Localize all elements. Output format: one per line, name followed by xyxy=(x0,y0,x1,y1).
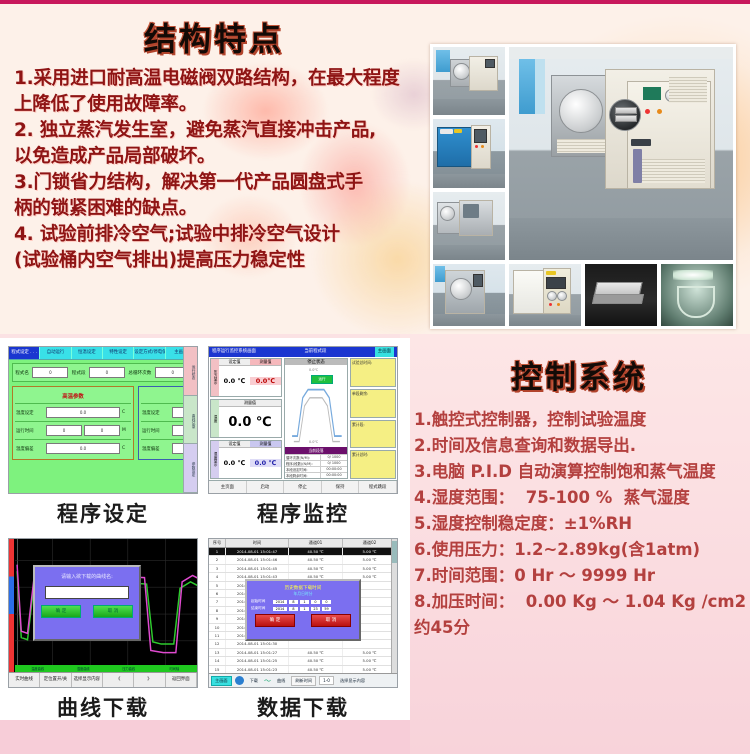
table-row[interactable]: 12014-08-01 15:01:4740.50 ℃5.00 ℃ xyxy=(209,548,397,556)
hmi1-field-ht-deviation[interactable]: 0.0 xyxy=(46,443,120,454)
control-item-9: 约45分 xyxy=(414,615,746,641)
hmi-panel-program-monitor: 程序运行监控系统画面 当前程式段 主画面 压力显示 设定值 测量值 xyxy=(208,346,398,528)
hmi3-download-dialog[interactable]: 请输入欲下载的曲线名: 确 定 取 消 xyxy=(33,565,141,641)
hmi4-start-year[interactable]: 2014 xyxy=(273,600,287,604)
hmi3-axis-scale xyxy=(9,539,14,673)
hmi4-start-minute[interactable]: 0 xyxy=(322,600,331,604)
hmi4-download-dialog[interactable]: 历史数据下载时间 年月日时分 起始时间 2014 8 1 0 0 结束时间 20… xyxy=(245,579,361,641)
cell-ch2: 5.00 ℃ xyxy=(343,548,397,555)
photo-chamber-interior-lit xyxy=(661,264,733,326)
photo-inner-tray-dark xyxy=(585,264,657,326)
control-item-1: 1.触控式控制器，控制试验温度 xyxy=(414,407,746,433)
control-item-6: 6.使用压力：1.2~2.89kg(含1atm) xyxy=(414,537,746,563)
photo-white-chamber-control-panel xyxy=(509,264,581,326)
hmi2-button-stop[interactable]: 停止 xyxy=(284,481,322,494)
hmi4-dialog-title: 历史数据下载时间 xyxy=(247,581,359,591)
cell-no: 13 xyxy=(209,649,226,656)
photo-main-pressure-cooker-test-chamber xyxy=(509,47,733,260)
hmi2-titlebar: 程序运行监控系统画面 当前程式段 主画面 xyxy=(209,347,397,357)
photo-grey-blue-chamber-front xyxy=(433,264,505,326)
hmi1-tab-1[interactable]: 自动运行 xyxy=(40,347,71,359)
hmi1-field-program-name[interactable]: 0 xyxy=(32,367,68,378)
hmi4-start-hour[interactable]: 0 xyxy=(311,600,320,604)
cell-no: 5 xyxy=(209,582,226,589)
hmi4-button-home[interactable]: 主画面 xyxy=(211,676,232,686)
cell-time: 2014-08-01 15:01:27 xyxy=(226,649,289,656)
hmi2-meter-temperature-tag: 温度 xyxy=(211,400,219,437)
hmi4-end-minute[interactable]: 59 xyxy=(322,607,331,611)
cell-ch2: 5.00 ℃ xyxy=(343,666,397,673)
hmi4-col-time: 时间 xyxy=(226,539,289,547)
hmi1-label-ht-runtime: 运行时间 xyxy=(16,428,44,434)
photo-row-bottom xyxy=(433,264,733,326)
table-row[interactable]: 122014-08-01 15:01:30 xyxy=(209,640,397,648)
hmi2-segment-band: 当前段落 xyxy=(285,447,347,454)
hmi3-button-realtime-curve[interactable]: 实时曲线 xyxy=(9,673,40,687)
hmi1-top-row: 程式名 0 程式段 0 总循环次数 0 xyxy=(12,363,194,382)
feature-item-2: 2. 独立蒸汽发生室，避免蒸汽直接冲击产品, 以免造成产品局部破坏。 xyxy=(14,118,410,169)
hmi4-dialog-ok-button[interactable]: 确 定 xyxy=(255,614,295,627)
hmi1-label-lt-runtime: 运行时间 xyxy=(142,428,170,434)
download-icon[interactable] xyxy=(235,676,244,685)
cell-no: 2 xyxy=(209,556,226,563)
hmi-panel-data-download: 序号 时间 通道01 通道02 12014-08-01 15:01:4740.5… xyxy=(208,538,398,722)
photo-chamber-open-door-lab xyxy=(433,47,505,115)
cell-no: 3 xyxy=(209,565,226,572)
hmi2-pressure-value-meas: 0.0℃ xyxy=(250,377,281,385)
hmi2-meter-humidity-tag: 湿度显示 xyxy=(211,441,219,478)
hmi1-tab-3[interactable]: 特性设定 xyxy=(103,347,134,359)
product-photo-grid xyxy=(430,44,736,329)
hmi1-tabbar: 程式设定 . . . 自动运行 恒温设定 特性设定 设定方式/停电保护 主画面 xyxy=(9,347,197,360)
control-item-2: 2.时间及信息查询和数据导出. xyxy=(414,433,746,459)
hmi2-card-accumulated-time: 累计总时: xyxy=(350,450,396,479)
hmi2-title-mid: 当前程式段 xyxy=(304,347,326,357)
hmi1-label-ht-deviation: 温度偏差 xyxy=(16,446,44,452)
hmi2-meter-humidity: 湿度显示 设定值 测量值 0.0 ℃ 0.0 ℃ xyxy=(210,440,282,479)
hmi2-home-button[interactable]: 主画面 xyxy=(375,347,394,357)
hmi1-label-total-cycles: 总循环次数 xyxy=(128,370,151,376)
hmi2-temp-value: 0.0 ℃ xyxy=(219,415,281,430)
hmi1-sidebar: 运行状态 曲线记录 参数设定 xyxy=(183,347,197,493)
hmi1-label-lt-deviation: 温度偏差 xyxy=(142,446,170,452)
hmi2-meter-pressure-tag: 压力显示 xyxy=(211,359,219,396)
cell-no: 7 xyxy=(209,598,226,605)
hmi4-dialog-label-end: 结束时间 xyxy=(251,606,271,611)
cell-ch1: 40.50 ℃ xyxy=(289,565,343,572)
control-item-5: 5.湿度控制稳定度：±1%RH xyxy=(414,511,746,537)
control-spec-list: 1.触控式控制器，控制试验温度 2.时间及信息查询和数据导出. 3.电脑 P.I… xyxy=(408,407,750,641)
control-item-8: 8.加压时间： 0.00 Kg ～ 1.04 Kg /cm2 xyxy=(414,589,746,615)
hmi1-field-ht-runtime-m[interactable]: 0 xyxy=(84,425,120,436)
hmi3-dialog-input[interactable] xyxy=(45,586,129,599)
cell-ch1: 40.50 ℃ xyxy=(289,649,343,656)
cell-time: 2014-08-01 15:01:23 xyxy=(226,666,289,673)
hmi2-button-jump-segment[interactable]: 程式跳段 xyxy=(359,481,397,494)
cell-ch1: 40.50 ℃ xyxy=(289,657,343,664)
photo-blue-cabinet-chamber xyxy=(433,119,505,187)
control-system-title: 控制系统 xyxy=(408,340,750,407)
hmi-screen-curve-download[interactable]: 温度曲线 湿度曲线 压力曲线 时间轴 请输入欲下载的曲线名: 确 定 取 消 实… xyxy=(8,538,198,688)
hmi-caption-data-download: 数据下载 xyxy=(208,692,398,722)
hmi1-unit-ht-setpoint: C xyxy=(122,410,130,415)
hmi4-dialog-label-start: 起始时间 xyxy=(251,599,271,604)
table-row[interactable]: 32014-08-01 15:01:4540.50 ℃5.00 ℃ xyxy=(209,565,397,573)
table-row[interactable]: 132014-08-01 15:01:2740.50 ℃5.00 ℃ xyxy=(209,649,397,657)
hmi2-meter-column: 压力显示 设定值 测量值 0.0 ℃ 0.0℃ xyxy=(209,357,283,480)
hmi1-field-ht-runtime-h[interactable]: 0 xyxy=(46,425,82,436)
hmi1-tab-0[interactable]: 程式设定 . . . xyxy=(9,347,40,359)
hmi1-label-program-name: 程式名 xyxy=(15,370,29,376)
hmi2-info-cards: 试验总时间: 单段剩余: 累计段: 累计总时: xyxy=(349,357,397,480)
cell-time: 2014-08-01 15:01:47 xyxy=(226,548,289,555)
hmi4-button-download[interactable]: 下载 xyxy=(247,677,261,685)
hmi-screen-data-download[interactable]: 序号 时间 通道01 通道02 12014-08-01 15:01:4740.5… xyxy=(208,538,398,688)
photo-stainless-chamber-open xyxy=(433,192,505,260)
hmi3-button-return[interactable]: 返回界面 xyxy=(166,673,197,687)
hmi4-end-day[interactable]: 1 xyxy=(300,607,309,611)
cell-ch1: 40.50 ℃ xyxy=(289,556,343,563)
hmi1-row-ht-runtime: 运行时间 0 0 M xyxy=(15,421,131,439)
cell-time: 2014-08-01 15:01:30 xyxy=(226,640,289,647)
hmi2-main: 压力显示 设定值 测量值 0.0 ℃ 0.0℃ xyxy=(209,357,397,480)
cell-time: 2014-08-01 15:01:25 xyxy=(226,657,289,664)
hmi2-card-accumulated-segments: 累计段: xyxy=(350,420,396,449)
cell-no: 14 xyxy=(209,657,226,664)
control-item-4: 4.湿度范围： 75-100 % 蒸气湿度 xyxy=(414,485,746,511)
curve-icon[interactable]: 〜 xyxy=(264,676,271,686)
hmi4-start-day[interactable]: 1 xyxy=(300,600,309,604)
hmi4-button-select-content[interactable]: 选择显示内容 xyxy=(337,677,368,685)
hmi2-meter-temperature: 温度 测量值 0.0 ℃ xyxy=(210,399,282,438)
hmi2-title-left: 程序运行监控系统画面 xyxy=(212,347,256,357)
hmi3-dialog-cancel-button[interactable]: 取 消 xyxy=(93,605,133,618)
hmi4-table-header: 序号 时间 通道01 通道02 xyxy=(209,539,397,548)
hmi4-buttonbar: 主画面 下载 〜 曲线 刷新时间 1-0 选择显示内容 xyxy=(209,673,397,687)
hmi2-pressure-value-set: 0.0 ℃ xyxy=(219,377,250,385)
table-row[interactable]: 22014-08-01 15:01:4640.50 ℃5.00 ℃ xyxy=(209,556,397,564)
hmi4-end-year[interactable]: 2014 xyxy=(273,607,287,611)
cell-no: 6 xyxy=(209,590,226,597)
hmi3-buttonbar: 实时曲线 定位置开/关 选择显示内容 《 》 返回界面 xyxy=(9,672,197,687)
hmi2-profile-plot: 运行 0.0℃ 0.0℃ xyxy=(285,365,347,447)
hmi2-run-badge: 运行 xyxy=(311,375,333,384)
cell-no: 15 xyxy=(209,666,226,673)
hmi4-dialog-subtitle: 年月日时分 xyxy=(247,591,359,597)
hmi-caption-curve-download: 曲线下载 xyxy=(8,692,198,722)
hmi2-hum-value-meas: 0.0 ℃ xyxy=(250,459,281,467)
hmi2-hum-value-set: 0.0 ℃ xyxy=(219,459,250,467)
feature-list: 1.采用进口耐高温电磁阀双路结构，在最大程度 上降低了使用故障率。 2. 独立蒸… xyxy=(0,66,418,273)
hmi4-dialog-row-end: 结束时间 2014 8 1 23 59 xyxy=(251,606,355,611)
hmi4-vertical-scrollbar[interactable] xyxy=(391,539,397,674)
photo-column-left xyxy=(433,47,505,260)
cell-ch1: 40.50 ℃ xyxy=(289,548,343,555)
hmi2-button-home[interactable]: 主页面 xyxy=(209,481,247,494)
hmi1-row-ht-setpoint: 温度设定 0.0 C xyxy=(15,403,131,421)
hmi1-group-high-temp-header: 高温参数 xyxy=(15,389,131,403)
hmi2-hum-head-meas: 测量值 xyxy=(250,441,281,448)
hmi-screen-program-setting[interactable]: 程式设定 . . . 自动运行 恒温设定 特性设定 设定方式/停电保护 主画面 … xyxy=(8,346,198,494)
hmi2-hum-head-set: 设定值 xyxy=(219,441,250,448)
cell-no: 8 xyxy=(209,607,226,614)
control-item-7: 7.时间范围：0 Hr ～ 9999 Hr xyxy=(414,563,746,589)
hmi1-label-ht-setpoint: 温度设定 xyxy=(16,410,44,416)
hmi1-unit-ht-deviation: C xyxy=(122,446,130,451)
hmi4-col-no: 序号 xyxy=(209,539,226,547)
hmi4-end-month[interactable]: 8 xyxy=(289,607,298,611)
hmi4-start-month[interactable]: 8 xyxy=(289,600,298,604)
hmi1-label-program-step: 程式段 xyxy=(72,370,86,376)
hmi1-sidebar-item-1[interactable]: 曲线记录 xyxy=(184,396,197,445)
cell-ch1: 40.50 ℃ xyxy=(289,666,343,673)
cell-ch2: 5.00 ℃ xyxy=(343,657,397,664)
hmi1-sidebar-item-0[interactable]: 运行状态 xyxy=(184,347,197,396)
cell-no: 12 xyxy=(209,640,226,647)
cell-ch1 xyxy=(289,640,343,647)
hmi2-pressure-head-set: 设定值 xyxy=(219,359,250,366)
control-item-3: 3.电脑 P.I.D 自动演算控制饱和蒸气温度 xyxy=(414,459,746,485)
hmi-panel-program-setting: 程式设定 . . . 自动运行 恒温设定 特性设定 设定方式/停电保护 主画面 … xyxy=(8,346,198,528)
hmi2-button-start[interactable]: 启动 xyxy=(247,481,285,494)
hmi4-dialog-cancel-button[interactable]: 取 消 xyxy=(311,614,351,627)
hmi4-end-hour[interactable]: 23 xyxy=(311,607,320,611)
hmi1-parameter-groups: 高温参数 温度设定 0.0 C 运行时间 0 0 M xyxy=(12,386,194,460)
cell-time: 2014-08-01 15:01:45 xyxy=(226,565,289,572)
structure-features-section: 结构特点 1.采用进口耐高温电磁阀双路结构，在最大程度 上降低了使用故障率。 2… xyxy=(0,10,418,335)
hmi3-dialog-ok-button[interactable]: 确 定 xyxy=(41,605,81,618)
hmi3-button-next[interactable]: 》 xyxy=(134,673,165,687)
hmi-screen-program-monitor[interactable]: 程序运行监控系统画面 当前程式段 主画面 压力显示 设定值 测量值 xyxy=(208,346,398,494)
cell-no: 9 xyxy=(209,615,226,622)
hmi2-card-total-time: 试验总时间: xyxy=(350,358,396,387)
hmi4-button-refresh-time[interactable]: 刷新时间 xyxy=(291,676,316,686)
hmi2-profile-chart: 停止状态 运行 0.0℃ 0.0℃ 当前段落 循环次数(N/M):0/ 1000 xyxy=(284,358,348,479)
hmi-caption-program-setting: 程序设定 xyxy=(8,498,198,528)
hmi-caption-program-monitor: 程序监控 xyxy=(208,498,398,528)
hmi2-pressure-head-meas: 测量值 xyxy=(250,359,281,366)
cell-ch2 xyxy=(343,640,397,647)
hmi3-button-select-content[interactable]: 选择显示内容 xyxy=(72,673,103,687)
hmi1-field-program-step[interactable]: 0 xyxy=(89,367,125,378)
hmi1-tab-4[interactable]: 设定方式/停电保护 xyxy=(134,347,165,359)
hmi4-page-indicator: 1-0 xyxy=(319,676,334,685)
hmi4-col-ch1: 通道01 xyxy=(289,539,343,547)
hmi3-chart-area: 温度曲线 湿度曲线 压力曲线 时间轴 请输入欲下载的曲线名: 确 定 取 消 xyxy=(9,539,197,673)
hmi2-meter-pressure: 压力显示 设定值 测量值 0.0 ℃ 0.0℃ xyxy=(210,358,282,397)
hmi1-unit-ht-runtime: M xyxy=(122,428,130,433)
cell-ch2: 5.00 ℃ xyxy=(343,565,397,572)
table-row[interactable]: 142014-08-01 15:01:2540.50 ℃5.00 ℃ xyxy=(209,657,397,665)
cell-no: 4 xyxy=(209,573,226,580)
hmi3-button-position-toggle[interactable]: 定位置开/关 xyxy=(40,673,71,687)
cell-no: 11 xyxy=(209,632,226,639)
hmi4-dialog-row-start: 起始时间 2014 8 1 0 0 xyxy=(251,599,355,604)
hmi2-temp-head: 测量值 xyxy=(219,400,281,407)
hmi2-button-hold[interactable]: 保持 xyxy=(322,481,360,494)
feature-item-1: 1.采用进口耐高温电磁阀双路结构，在最大程度 上降低了使用故障率。 xyxy=(14,66,410,117)
page-title: 结构特点 xyxy=(0,10,418,66)
hmi1-tab-2[interactable]: 恒温设定 xyxy=(72,347,103,359)
hmi1-body: 程式名 0 程式段 0 总循环次数 0 高温参数 温度设定 0.0 C xyxy=(9,360,197,494)
hmi2-card-segment-remaining: 单段剩余: xyxy=(350,389,396,418)
cell-ch2: 5.00 ℃ xyxy=(343,556,397,563)
feature-item-3: 3.门锁省力结构，解决第一代产品圆盘式手 柄的锁紧困难的缺点。 xyxy=(14,170,410,221)
hmi4-button-curve[interactable]: 曲线 xyxy=(274,677,288,685)
cell-no: 1 xyxy=(209,548,226,555)
bottom-pink-band xyxy=(0,720,410,754)
hmi-panel-curve-download: 温度曲线 湿度曲线 压力曲线 时间轴 请输入欲下载的曲线名: 确 定 取 消 实… xyxy=(8,538,198,722)
feature-item-4: 4. 试验前排冷空气;试验中排冷空气设计 (试验桶内空气排出)提高压力稳定性 xyxy=(14,222,410,273)
hmi1-label-lt-setpoint: 温度设定 xyxy=(142,410,170,416)
hmi1-sidebar-item-2[interactable]: 参数设定 xyxy=(184,444,197,493)
hmi1-field-ht-setpoint[interactable]: 0.0 xyxy=(46,407,120,418)
hmi3-button-prev[interactable]: 《 xyxy=(103,673,134,687)
control-system-section: 控制系统 1.触控式控制器，控制试验温度 2.时间及信息查询和数据导出. 3.电… xyxy=(408,340,750,754)
hmi2-buttonbar: 主页面 启动 停止 保持 程式跳段 xyxy=(209,480,397,494)
poster-root: 结构特点 1.采用进口耐高温电磁阀双路结构，在最大程度 上降低了使用故障率。 2… xyxy=(0,0,750,754)
hmi1-row-ht-deviation: 温度偏差 0.0 C xyxy=(15,439,131,457)
hmi4-col-ch2: 通道02 xyxy=(343,539,397,547)
cell-ch2: 5.00 ℃ xyxy=(343,649,397,656)
hmi3-dialog-title: 请输入欲下载的曲线名: xyxy=(35,567,139,580)
hmi1-group-high-temp: 高温参数 温度设定 0.0 C 运行时间 0 0 M xyxy=(12,386,134,460)
cell-time: 2014-08-01 15:01:46 xyxy=(226,556,289,563)
cell-no: 10 xyxy=(209,624,226,631)
